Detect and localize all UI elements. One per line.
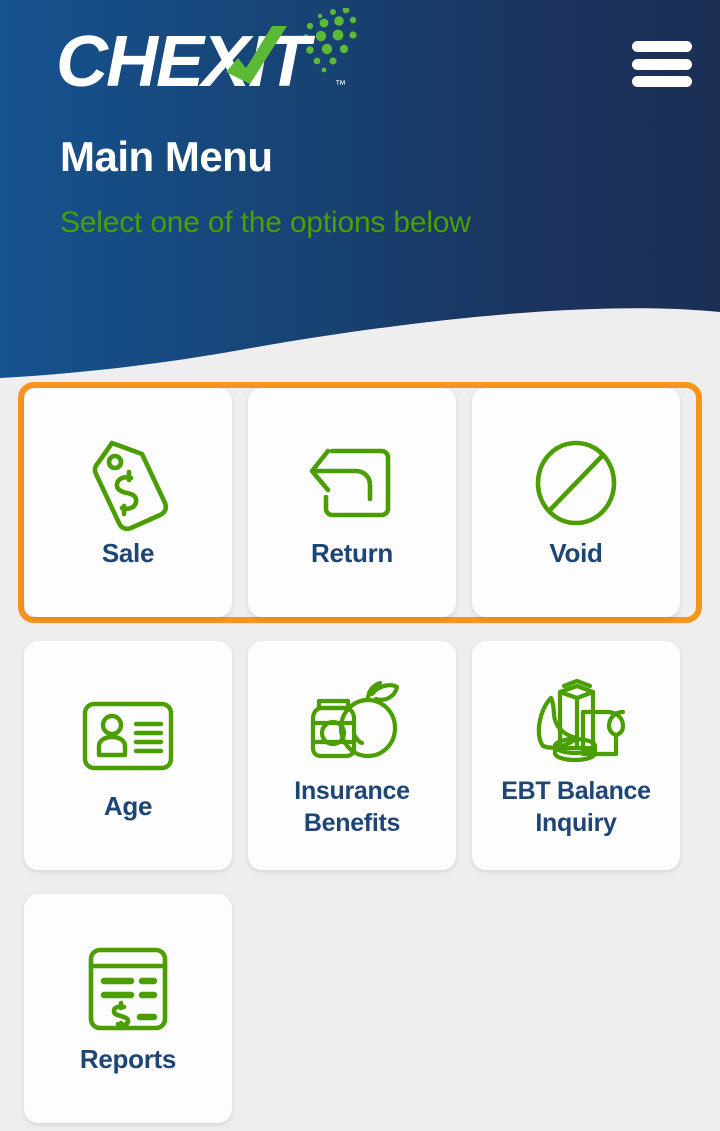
menu-grid: Sale Return bbox=[0, 380, 720, 1131]
hamburger-menu-icon[interactable] bbox=[632, 38, 692, 90]
page-subtitle: Select one of the options below bbox=[60, 205, 471, 241]
hamburger-bar-3 bbox=[632, 76, 692, 87]
menu-row-1: Sale Return bbox=[0, 380, 720, 625]
menu-card-label: Sale bbox=[102, 537, 154, 570]
menu-card-age[interactable]: Age bbox=[24, 641, 232, 870]
menu-row-3: Reports bbox=[0, 886, 720, 1131]
menu-card-label: EBT Balance Inquiry bbox=[480, 775, 672, 839]
header: CHEXIT ™ Main Menu Select one of the opt… bbox=[0, 0, 720, 380]
hamburger-bar-2 bbox=[632, 59, 692, 70]
logo-swoosh-dots bbox=[302, 8, 356, 72]
menu-row-2: Age bbox=[0, 633, 720, 878]
receipt-report-icon bbox=[86, 941, 170, 1037]
main-menu-screen: CHEXIT ™ Main Menu Select one of the opt… bbox=[0, 0, 720, 1131]
menu-card-label: Void bbox=[549, 537, 602, 570]
return-arrow-icon bbox=[306, 435, 398, 531]
logo-trademark: ™ bbox=[335, 79, 346, 91]
menu-card-insurance-benefits[interactable]: Insurance Benefits bbox=[248, 641, 456, 870]
menu-card-ebt-balance-inquiry[interactable]: EBT Balance Inquiry bbox=[472, 641, 680, 870]
price-tag-dollar-icon bbox=[82, 435, 174, 531]
menu-card-label: Insurance Benefits bbox=[256, 775, 448, 839]
menu-card-void[interactable]: Void bbox=[472, 388, 680, 617]
hamburger-bar-1 bbox=[632, 41, 692, 52]
menu-card-label: Age bbox=[104, 790, 152, 823]
menu-card-sale[interactable]: Sale bbox=[24, 388, 232, 617]
menu-card-label: Return bbox=[311, 537, 393, 570]
chexit-logo[interactable]: CHEXIT ™ bbox=[58, 8, 368, 108]
page-title: Main Menu bbox=[60, 134, 273, 180]
menu-card-return[interactable]: Return bbox=[248, 388, 456, 617]
jar-and-fruit-icon bbox=[300, 673, 404, 769]
groceries-icon bbox=[525, 673, 627, 769]
prohibited-circle-icon bbox=[530, 435, 622, 531]
menu-card-label: Reports bbox=[80, 1043, 176, 1076]
id-card-icon bbox=[81, 688, 175, 784]
menu-card-reports[interactable]: Reports bbox=[24, 894, 232, 1123]
